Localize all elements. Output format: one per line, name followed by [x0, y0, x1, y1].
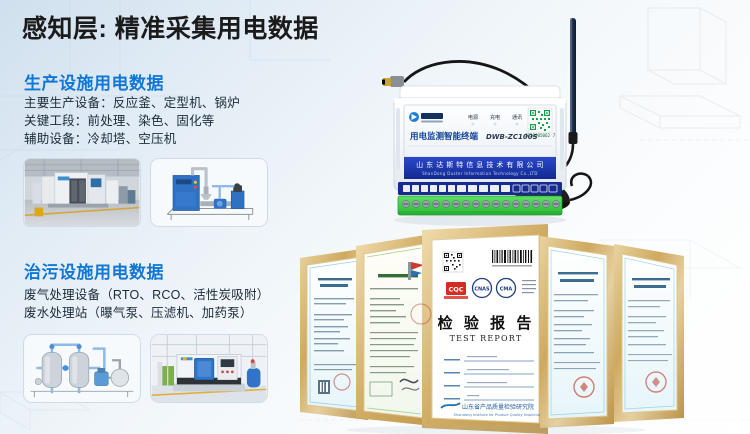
production-line-3: 辅助设备：冷却塔、空压机 — [24, 130, 240, 148]
certificates-group: CQC CNAS CMA 检 验 报 告 TEST REPORT — [296, 222, 716, 434]
svg-text:电源: 电源 — [468, 114, 478, 121]
indicator-labels: 电源 充电 通讯 — [468, 114, 522, 121]
page-title: 感知层: 精准采集用电数据 — [22, 9, 319, 45]
antenna-rod — [569, 18, 578, 144]
svg-text:CQC: CQC — [448, 286, 463, 294]
utility-model-patent-certificate — [356, 234, 432, 426]
svg-text:山东省产品质量检验研究院: 山东省产品质量检验研究院 — [462, 403, 534, 411]
section-title-production: 生产设施用电数据 — [24, 69, 164, 94]
terminal-marking-strip — [398, 182, 562, 195]
company-bar: 山 东 达 斯 特 信 息 技 术 有 限 公 司 ShanDong Duste… — [404, 157, 556, 179]
production-line-2: 关键工段：前处理、染色、固化等 — [24, 112, 240, 130]
boiler-illustration — [150, 158, 268, 227]
section-title-pollution: 治污设施用电数据 — [24, 258, 164, 283]
svg-text:DWB-ZC100S: DWB-ZC100S — [486, 133, 538, 141]
pollution-line-1: 废气处理设备（RTO、RCO、活性炭吸附） — [24, 286, 269, 304]
svg-text:TEST REPORT: TEST REPORT — [450, 334, 523, 343]
brand-logo — [409, 112, 443, 123]
section-body-pollution: 废气处理设备（RTO、RCO、活性炭吸附） 废水处理站（曝气泵、压滤机、加药泵） — [24, 286, 269, 322]
factory-machine-photo — [23, 158, 141, 227]
software-copyright-certificate-3 — [614, 244, 684, 422]
svg-text:Shandong Institute for Product: Shandong Institute for Product Quality I… — [454, 413, 543, 417]
test-report-certificate: CQC CNAS CMA 检 验 报 告 TEST REPORT — [411, 224, 548, 434]
waste-water-tanks-illustration — [23, 334, 141, 403]
pollution-line-2: 废水处理站（曝气泵、压滤机、加药泵） — [24, 304, 269, 322]
test-report-qr — [443, 252, 463, 272]
svg-text:CMA: CMA — [500, 287, 513, 293]
svg-text:检 验 报 告: 检 验 报 告 — [438, 314, 535, 332]
production-line-1: 主要生产设备：反应釜、定型机、锅炉 — [24, 94, 240, 112]
cnc-equipment-illustration — [150, 334, 268, 403]
svg-text:通讯: 通讯 — [512, 114, 522, 121]
svg-text:用电监测智能终端: 用电监测智能终端 — [409, 131, 479, 142]
green-terminal-block — [398, 196, 562, 215]
svg-text:充电: 充电 — [490, 114, 500, 121]
section-body-production: 主要生产设备：反应釜、定型机、锅炉 关键工段：前处理、染色、固化等 辅助设备：冷… — [24, 94, 240, 148]
product-name-row: 用电监测智能终端 DWB-ZC100S — [409, 131, 538, 142]
software-copyright-certificate-2 — [540, 236, 614, 428]
svg-text:山 东 达 斯 特 信 息 技 术 有 限 公 司: 山 东 达 斯 特 信 息 技 术 有 限 公 司 — [416, 160, 544, 169]
device-label-panel: 电源 充电 通讯 — [404, 105, 556, 157]
svg-text:ShanDong Duster Information Te: ShanDong Duster Information Technology C… — [422, 171, 538, 176]
device-illustration: 电源 充电 通讯 — [382, 4, 642, 230]
svg-text:CNAS: CNAS — [474, 287, 490, 293]
